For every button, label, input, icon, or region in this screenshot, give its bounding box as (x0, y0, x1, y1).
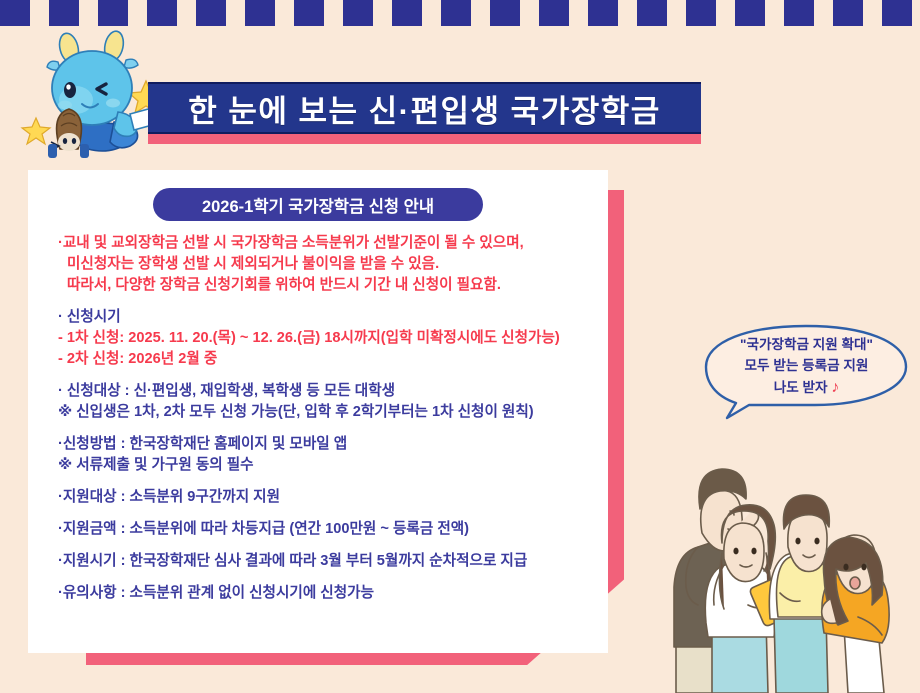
striped-top-border (0, 0, 920, 26)
students-illustration (672, 437, 920, 693)
bubble-line-1: "국가장학금 지원 확대" (703, 335, 910, 356)
info-card: 2026-1학기 국가장학금 신청 안내 ·교내 및 교외장학금 선발 시 국가… (28, 170, 608, 653)
info-line: 미신청자는 장학생 선발 시 제외되거나 불이익을 받을 수 있음. (58, 254, 590, 275)
title-banner-box: 한 눈에 보는 신·편입생 국가장학금 (148, 82, 701, 134)
info-line: ※ 신입생은 1차, 2차 모두 신청 가능(단, 입학 후 2학기부터는 1차… (58, 402, 590, 423)
info-block: ·지원시기 : 한국장학재단 심사 결과에 따라 3월 부터 5월까지 순차적으… (58, 551, 590, 572)
star-icon (22, 118, 50, 144)
info-block: ·유의사항 : 소득분위 관계 없이 신청시기에 신청가능 (58, 583, 590, 604)
info-line: ·유의사항 : 소득분위 관계 없이 신청시기에 신청가능 (58, 583, 590, 604)
page-title: 한 눈에 보는 신·편입생 국가장학금 (188, 86, 661, 131)
info-line: · 신청시기 (58, 307, 590, 328)
info-line: ·지원대상 : 소득분위 9구간까지 지원 (58, 487, 590, 508)
info-line: - 1차 신청: 2025. 11. 20.(목) ~ 12. 26.(금) 1… (58, 328, 590, 349)
speech-bubble: "국가장학금 지원 확대" 모두 받는 등록금 지원 나도 받자 ♪ (703, 323, 910, 421)
info-line: ·지원시기 : 한국장학재단 심사 결과에 따라 3월 부터 5월까지 순차적으… (58, 551, 590, 572)
info-line: - 2차 신청: 2026년 2월 중 (58, 349, 590, 370)
music-note-icon: ♪ (831, 379, 839, 396)
info-block: ·교내 및 교외장학금 선발 시 국가장학금 소득분위가 선발기준이 될 수 있… (58, 233, 590, 296)
subtitle-label: 2026-1학기 국가장학금 신청 안내 (202, 193, 434, 217)
info-block: ·신청방법 : 한국장학재단 홈페이지 및 모바일 앱 ※ 서류제출 및 가구원… (58, 434, 590, 476)
subtitle-pill: 2026-1학기 국가장학금 신청 안내 (153, 188, 483, 221)
title-banner: 한 눈에 보는 신·편입생 국가장학금 (148, 82, 701, 144)
info-block: ·지원대상 : 소득분위 9구간까지 지원 (58, 487, 590, 508)
info-line: ·지원금액 : 소득분위에 따라 차등지급 (연간 100만원 ~ 등록금 전액… (58, 519, 590, 540)
bubble-line-2: 모두 받는 등록금 지원 (703, 356, 910, 377)
info-block: ·지원금액 : 소득분위에 따라 차등지급 (연간 100만원 ~ 등록금 전액… (58, 519, 590, 540)
bubble-line-3-text: 나도 받자 (774, 380, 828, 395)
info-line: 따라서, 다양한 장학금 신청기회를 위하여 반드시 기간 내 신청이 필요함. (58, 275, 590, 296)
info-line: · 신청대상 : 신·편입생, 재입학생, 복학생 등 모든 대학생 (58, 381, 590, 402)
info-block: · 신청대상 : 신·편입생, 재입학생, 복학생 등 모든 대학생 ※ 신입생… (58, 381, 590, 423)
info-body: ·교내 및 교외장학금 선발 시 국가장학금 소득분위가 선발기준이 될 수 있… (46, 233, 590, 604)
speech-bubble-text: "국가장학금 지원 확대" 모두 받는 등록금 지원 나도 받자 ♪ (703, 335, 910, 401)
info-block: · 신청시기 - 1차 신청: 2025. 11. 20.(목) ~ 12. 2… (58, 307, 590, 370)
info-line: ※ 서류제출 및 가구원 동의 필수 (58, 455, 590, 476)
bubble-line-3: 나도 받자 ♪ (703, 376, 910, 400)
title-underline-bar (148, 134, 701, 144)
info-line: ·교내 및 교외장학금 선발 시 국가장학금 소득분위가 선발기준이 될 수 있… (58, 233, 590, 254)
info-line: ·신청방법 : 한국장학재단 홈페이지 및 모바일 앱 (58, 434, 590, 455)
scholarship-poster: 한 눈에 보는 신·편입생 국가장학금 2026-1학기 국가장학금 신청 안내… (0, 0, 920, 693)
